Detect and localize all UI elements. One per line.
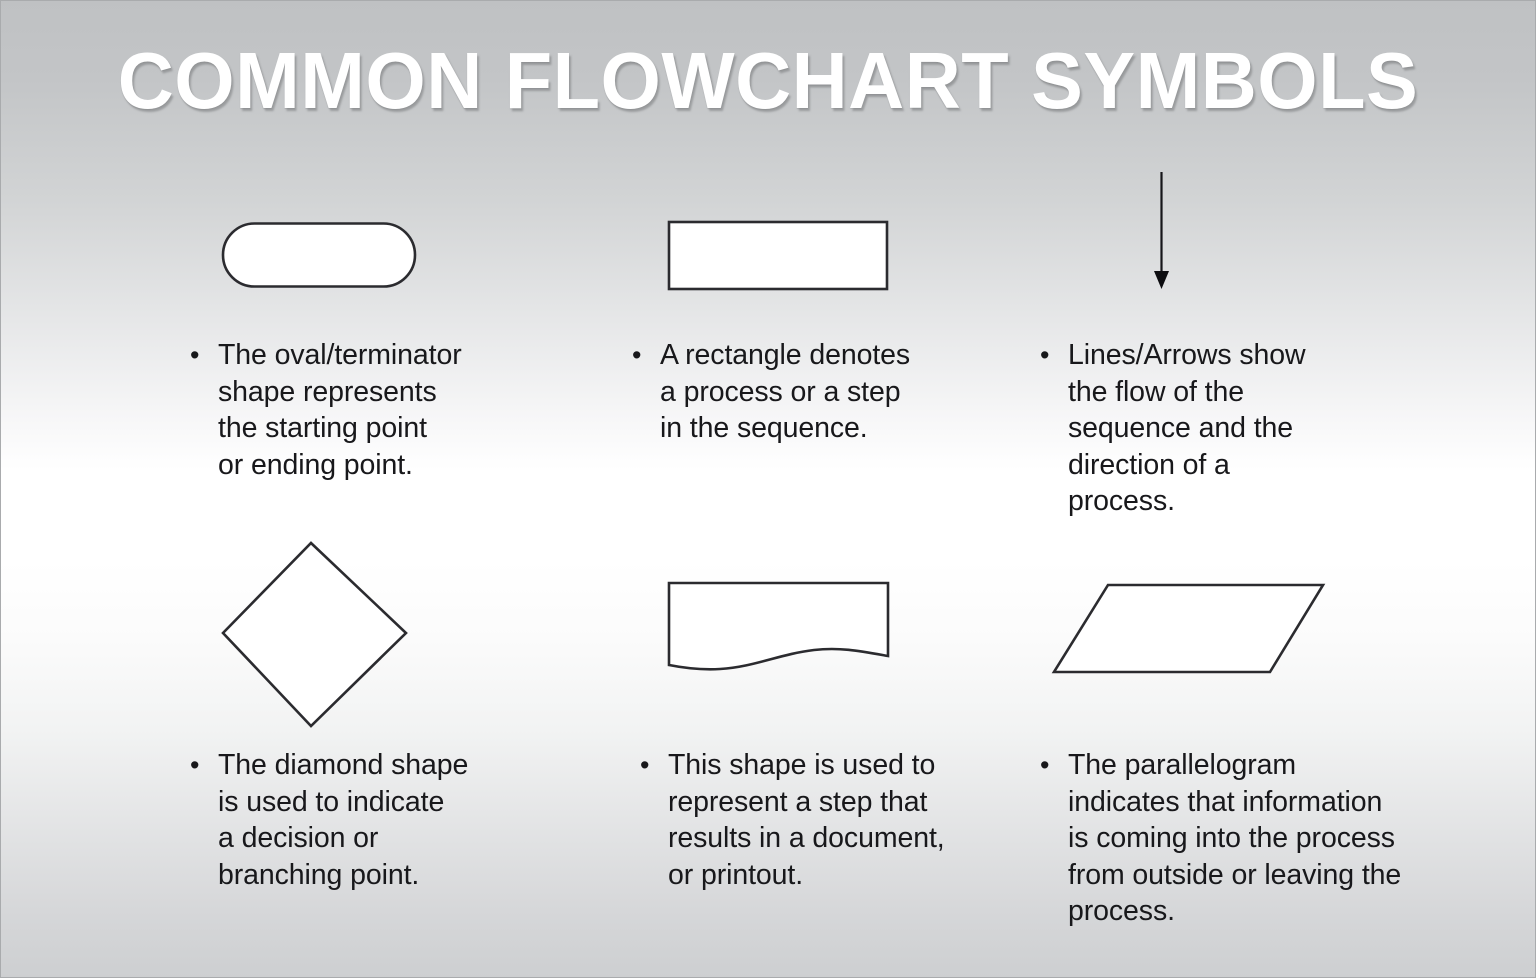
bullet-marker: • — [186, 747, 218, 784]
list-item-text: The parallelogram indicates that informa… — [1068, 747, 1456, 930]
diamond-decision-shape-icon — [216, 536, 416, 734]
oval-terminator-shape-icon — [218, 218, 422, 292]
list-item-rectangle: • A rectangle denotes a process or a ste… — [628, 337, 968, 447]
document-shape-icon — [662, 577, 896, 681]
bullet-marker: • — [1036, 337, 1068, 374]
list-item-oval: • The oval/terminator shape represents t… — [186, 337, 516, 483]
list-item-document: • This shape is used to represent a step… — [636, 747, 996, 893]
bullet-marker: • — [1036, 747, 1068, 784]
bullet-marker: • — [186, 337, 218, 374]
flowchart-symbols-slide: COMMON FLOWCHART SYMBOLS • The oval/term… — [0, 0, 1536, 978]
list-item-text: A rectangle denotes a process or a step … — [660, 337, 968, 447]
list-item-text: The diamond shape is used to indicate a … — [218, 747, 516, 893]
list-item-diamond: • The diamond shape is used to indicate … — [186, 747, 516, 893]
list-item-arrow: • Lines/Arrows show the flow of the sequ… — [1036, 337, 1366, 520]
bullet-marker: • — [636, 747, 668, 784]
page-title: COMMON FLOWCHART SYMBOLS — [23, 38, 1513, 124]
arrow-flow-line-icon — [1140, 166, 1184, 298]
list-item-text: The oval/terminator shape represents the… — [218, 337, 516, 483]
bullet-marker: • — [628, 337, 660, 374]
parallelogram-data-shape-icon — [1046, 578, 1336, 682]
list-item-text: Lines/Arrows show the flow of the sequen… — [1068, 337, 1366, 520]
rectangle-process-shape-icon — [664, 217, 894, 299]
list-item-parallelogram: • The parallelogram indicates that infor… — [1036, 747, 1456, 930]
list-item-text: This shape is used to represent a step t… — [668, 747, 996, 893]
